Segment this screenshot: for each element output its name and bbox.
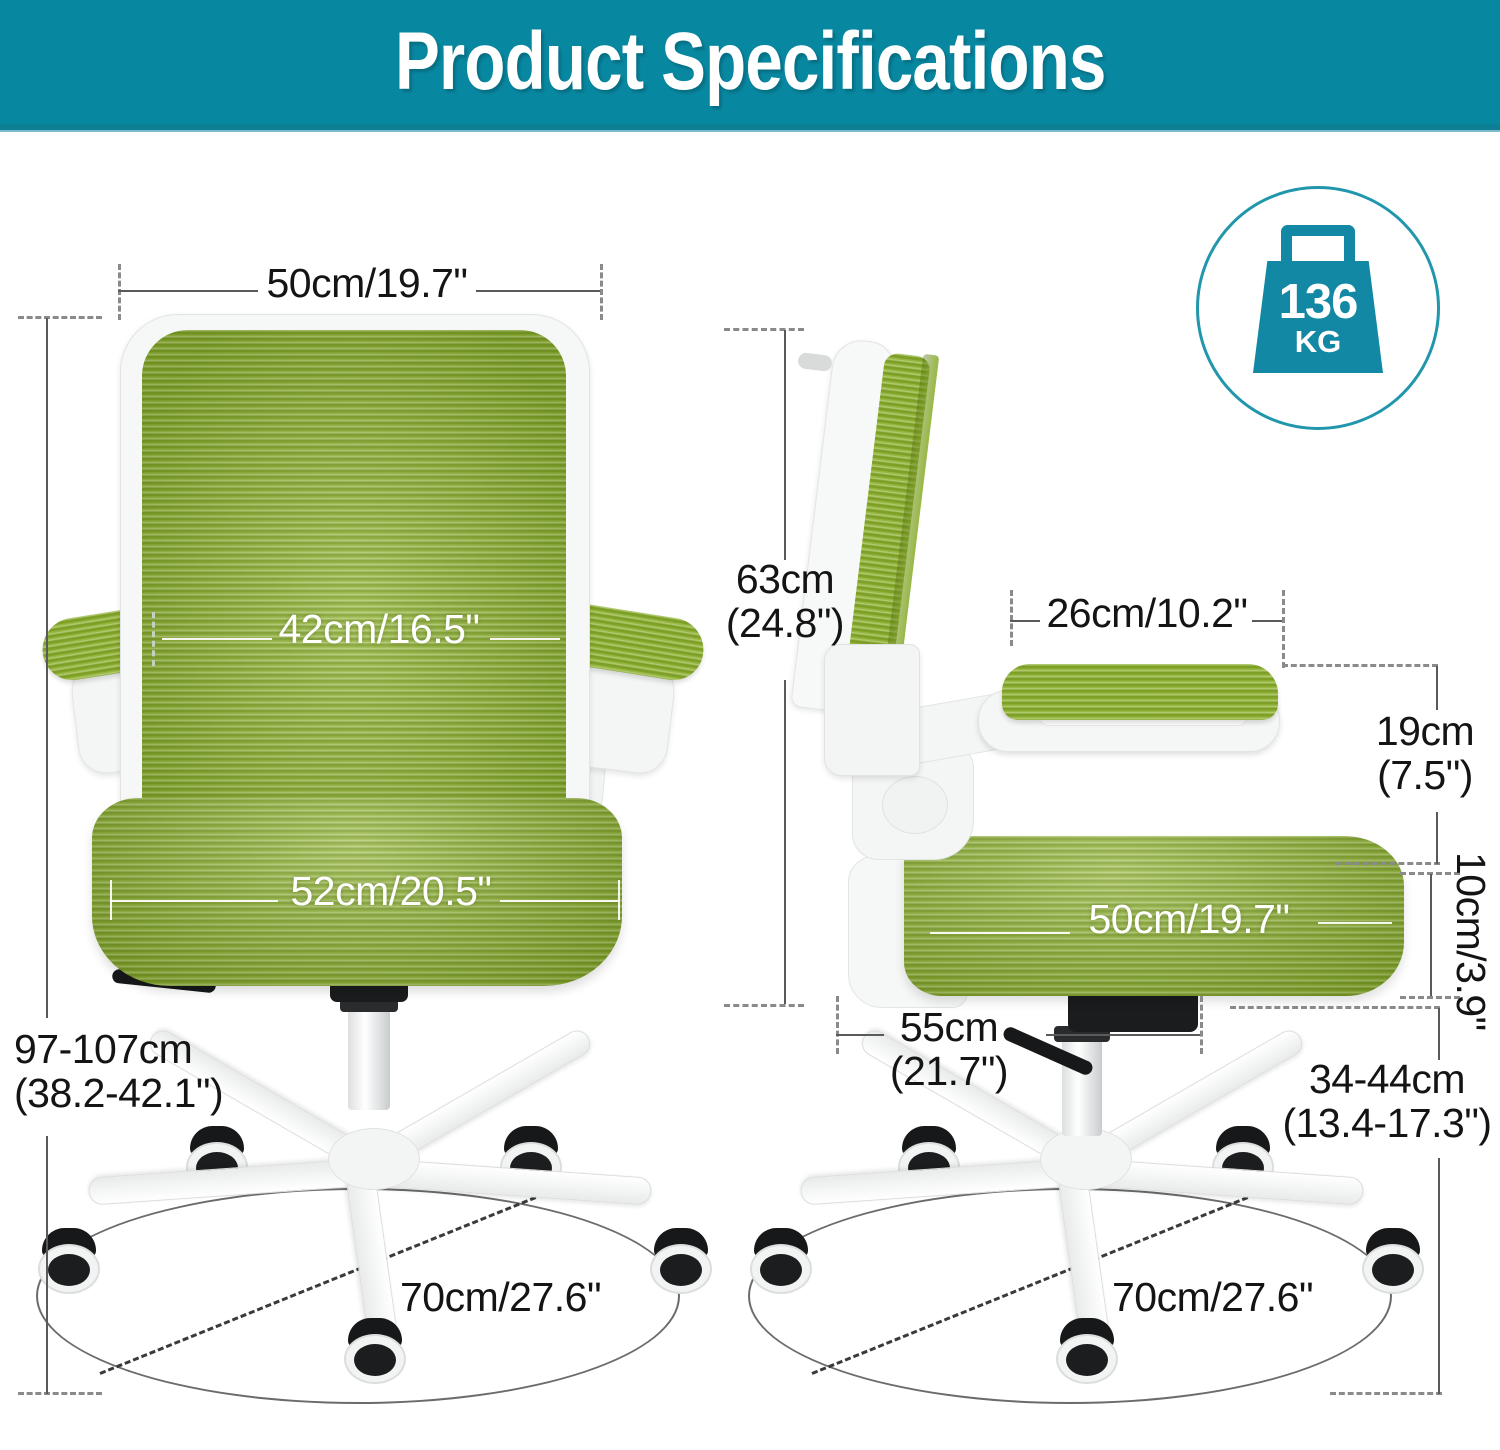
dim-base-diameter-side: 70cm/27.6" xyxy=(1112,1276,1392,1320)
dim-tick xyxy=(1200,996,1203,1054)
dim-line xyxy=(490,638,560,640)
dim-line xyxy=(162,638,272,640)
weight-capacity-value: 136 xyxy=(1279,279,1358,325)
dim-base-diameter-front: 70cm/27.6" xyxy=(400,1276,680,1320)
dim-line xyxy=(46,318,48,1018)
weight-capacity-unit: KG xyxy=(1295,326,1342,357)
dim-tick xyxy=(1282,590,1285,668)
weight-capacity-badge: 136 KG xyxy=(1196,186,1440,430)
dim-tick xyxy=(600,264,603,320)
dim-armrest-height: 19cm (7.5") xyxy=(1350,710,1500,798)
dim-line xyxy=(784,330,786,560)
dim-tick xyxy=(152,612,155,666)
dim-line xyxy=(930,932,1070,934)
dim-tick xyxy=(18,1392,102,1395)
gas-cylinder xyxy=(1062,1030,1102,1136)
armrest-pad-side xyxy=(1002,664,1278,720)
dim-seat-thickness: 10cm/3.9" xyxy=(1448,852,1492,1022)
dim-line xyxy=(118,290,258,292)
weight-icon-handle xyxy=(1281,225,1355,265)
dim-line xyxy=(1046,1034,1200,1036)
dim-line xyxy=(1438,1158,1440,1394)
dim-line xyxy=(46,1136,48,1394)
banner-divider-light xyxy=(0,130,1500,132)
dim-seat-depth: 50cm/19.7" xyxy=(1064,898,1314,942)
armrest-pivot-disc xyxy=(882,776,948,834)
backrest-top-knob xyxy=(797,352,833,372)
dim-tick xyxy=(618,880,620,920)
dim-line xyxy=(1436,666,1438,710)
dim-tick xyxy=(110,880,112,920)
backrest-pivot-block xyxy=(824,644,920,776)
caster xyxy=(750,1228,812,1294)
dim-tick xyxy=(118,264,121,320)
dim-line xyxy=(1438,1008,1440,1060)
caster xyxy=(1056,1318,1118,1384)
dim-armrest-length: 26cm/10.2" xyxy=(1032,592,1262,636)
dim-tick xyxy=(1230,1006,1440,1009)
base-hub xyxy=(1040,1128,1132,1190)
dim-line xyxy=(110,900,278,902)
product-specification-page: Product Specifications 136 KG xyxy=(0,0,1500,1450)
gas-cylinder xyxy=(348,998,390,1110)
page-title: Product Specifications xyxy=(395,15,1106,109)
base-hub xyxy=(328,1128,420,1190)
dim-overall-height: 97-107cm (38.2-42.1") xyxy=(14,1028,274,1116)
dim-line xyxy=(1436,812,1438,864)
dim-backrest-width: 42cm/16.5" xyxy=(266,608,492,652)
dim-line xyxy=(500,900,618,902)
weight-icon: 136 KG xyxy=(1253,261,1383,373)
dim-line xyxy=(784,680,786,1004)
dim-tick xyxy=(1282,664,1438,667)
caster xyxy=(344,1318,406,1384)
dim-tick xyxy=(1330,1392,1442,1395)
dim-line xyxy=(1318,922,1392,924)
header-banner: Product Specifications xyxy=(0,0,1500,124)
dim-tick xyxy=(724,1004,804,1007)
dim-tick xyxy=(1336,862,1440,865)
dim-line xyxy=(1430,874,1432,996)
dim-tick xyxy=(1010,590,1013,646)
dim-tick xyxy=(836,996,839,1054)
dim-backrest-height: 63cm (24.8") xyxy=(690,558,880,646)
dim-tick xyxy=(724,328,804,331)
dim-tick xyxy=(18,316,102,319)
dim-back-width: 50cm/19.7" xyxy=(252,262,482,306)
dim-line xyxy=(476,290,600,292)
dim-total-depth: 55cm (21.7") xyxy=(854,1006,1044,1094)
dim-seat-width: 52cm/20.5" xyxy=(278,870,504,914)
backrest-mesh xyxy=(142,330,566,822)
dim-seat-height-range: 34-44cm (13.4-17.3") xyxy=(1274,1058,1500,1146)
